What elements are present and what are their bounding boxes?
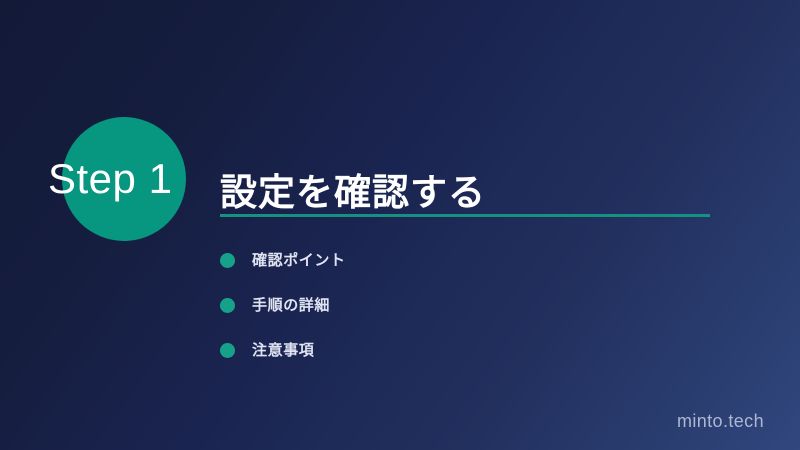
list-item: 確認ポイント [220,238,680,283]
brand-watermark: minto.tech [677,410,764,432]
title-divider [220,214,710,217]
list-item: 手順の詳細 [220,283,680,328]
bullet-list: 確認ポイント 手順の詳細 注意事項 [220,238,680,373]
bullet-dot-icon [220,298,235,313]
slide-canvas: Step 1 設定を確認する 確認ポイント 手順の詳細 注意事項 minto.t… [0,0,800,450]
list-item-label: 注意事項 [252,341,314,361]
list-item-label: 手順の詳細 [252,296,330,316]
list-item: 注意事項 [220,328,680,373]
slide-title: 設定を確認する [220,171,486,215]
list-item-label: 確認ポイント [252,251,346,271]
bullet-dot-icon [220,343,235,358]
step-badge: Step 1 [62,117,186,241]
bullet-dot-icon [220,253,235,268]
